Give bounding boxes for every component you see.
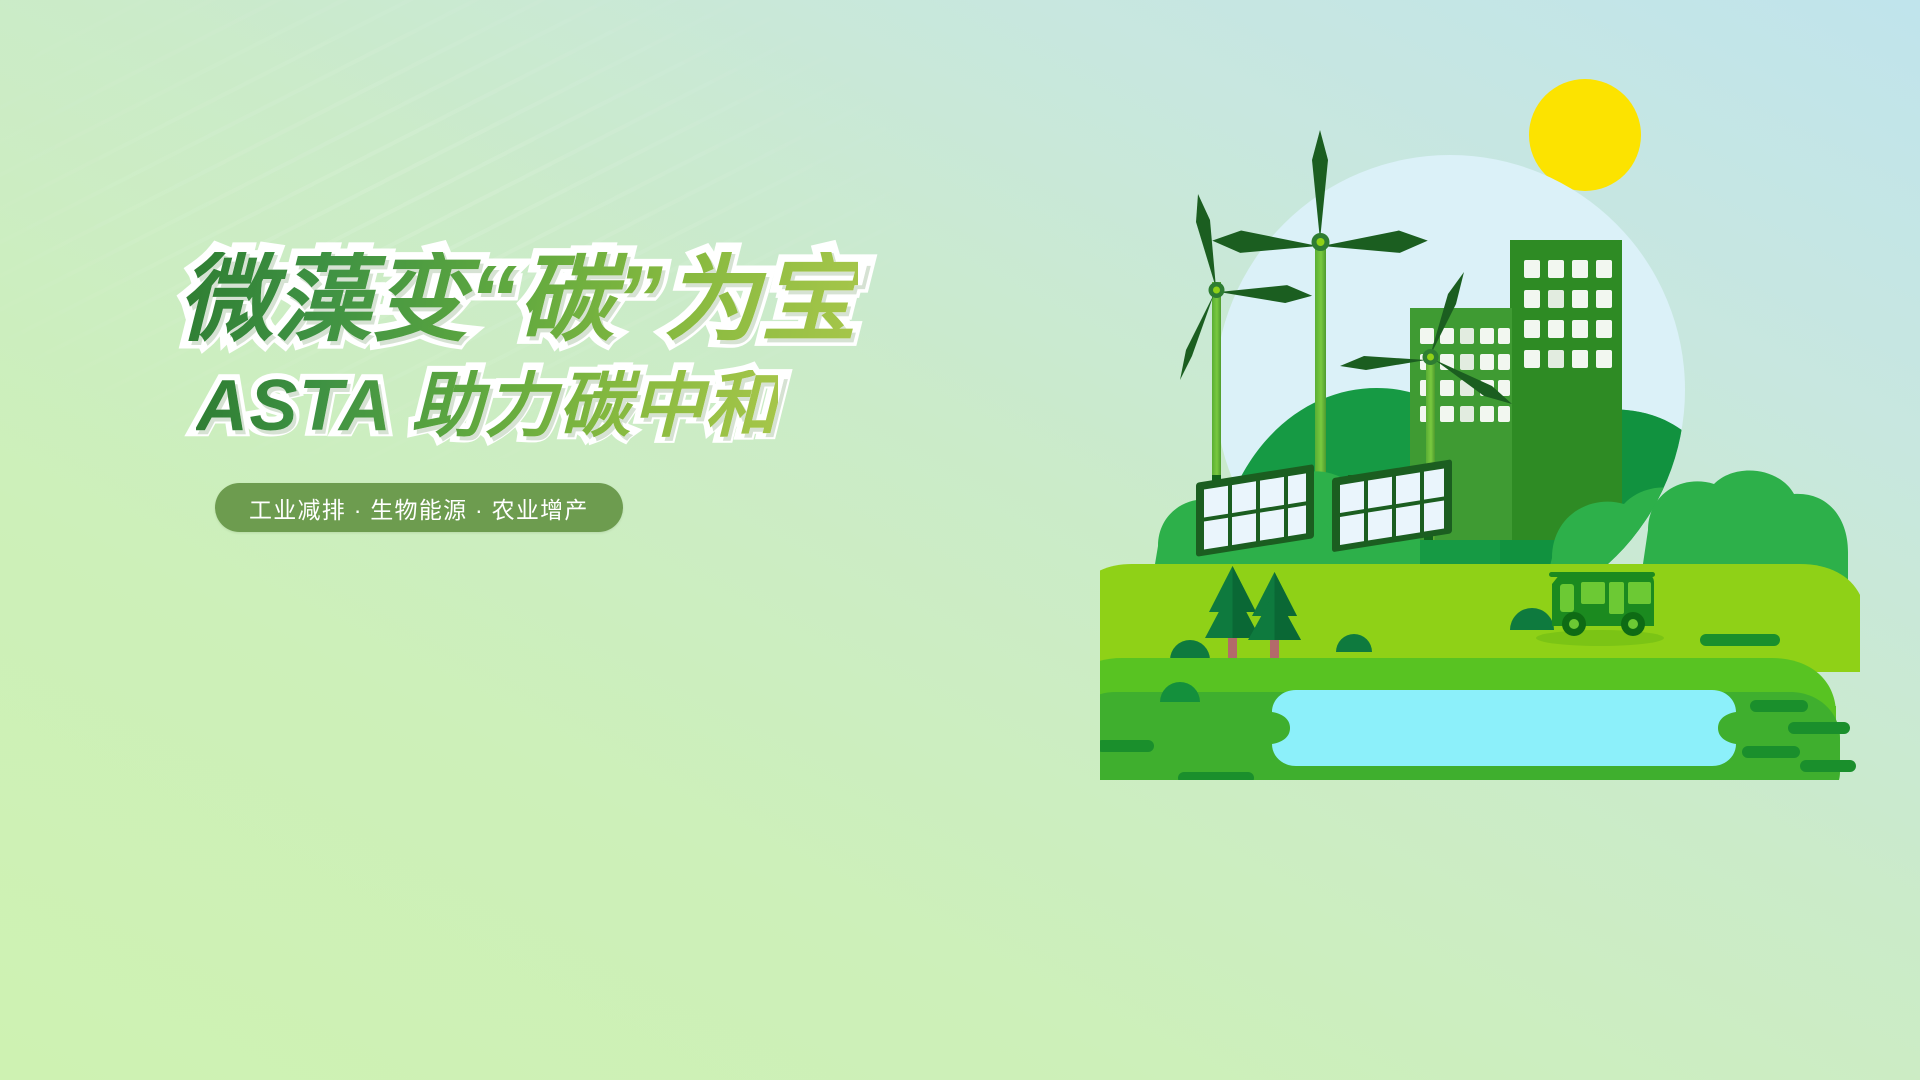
headline-line-1-fill: 微藻变“碳”为宝 (178, 252, 858, 348)
headline-line-1: 微藻变“碳”为宝 微藻变“碳”为宝 (0, 252, 900, 348)
grass-band-top (1100, 564, 1860, 672)
eco-banner: 微藻变“碳”为宝 微藻变“碳”为宝 ASTA 助力碳中和 ASTA 助力碳中和 … (0, 0, 1920, 1080)
bus-roof (1549, 572, 1655, 577)
wind-turbine-left-hub-center (1213, 287, 1220, 294)
feature-pill-badge: 工业减排 · 生物能源 · 农业增产 (215, 483, 623, 532)
feature-pill-badge-text: 工业减排 · 生物能源 · 农业增产 (249, 491, 589, 525)
sun-icon (1529, 79, 1641, 191)
eco-city-illustration (1100, 60, 1860, 780)
headline-block: 微藻变“碳”为宝 微藻变“碳”为宝 ASTA 助力碳中和 ASTA 助力碳中和 (0, 252, 900, 442)
headline-line-2-wrap: ASTA 助力碳中和 ASTA 助力碳中和 (196, 370, 778, 442)
headline-line-2-fill: ASTA 助力碳中和 (196, 370, 778, 442)
wind-turbine-center-hub-center (1317, 238, 1325, 246)
bus-shadow (1536, 630, 1664, 646)
headline-line-1-wrap: 微藻变“碳”为宝 微藻变“碳”为宝 (178, 252, 858, 348)
illustration-svg (1100, 60, 1860, 780)
building-tall (1510, 240, 1622, 540)
bus-wheel-front-hub (1569, 619, 1579, 629)
wind-turbine-right-hub-center (1427, 354, 1434, 361)
electric-bus (1536, 572, 1664, 646)
lake (1272, 690, 1736, 766)
headline-line-2: ASTA 助力碳中和 ASTA 助力碳中和 (0, 370, 900, 442)
bus-wheel-rear-hub (1628, 619, 1638, 629)
